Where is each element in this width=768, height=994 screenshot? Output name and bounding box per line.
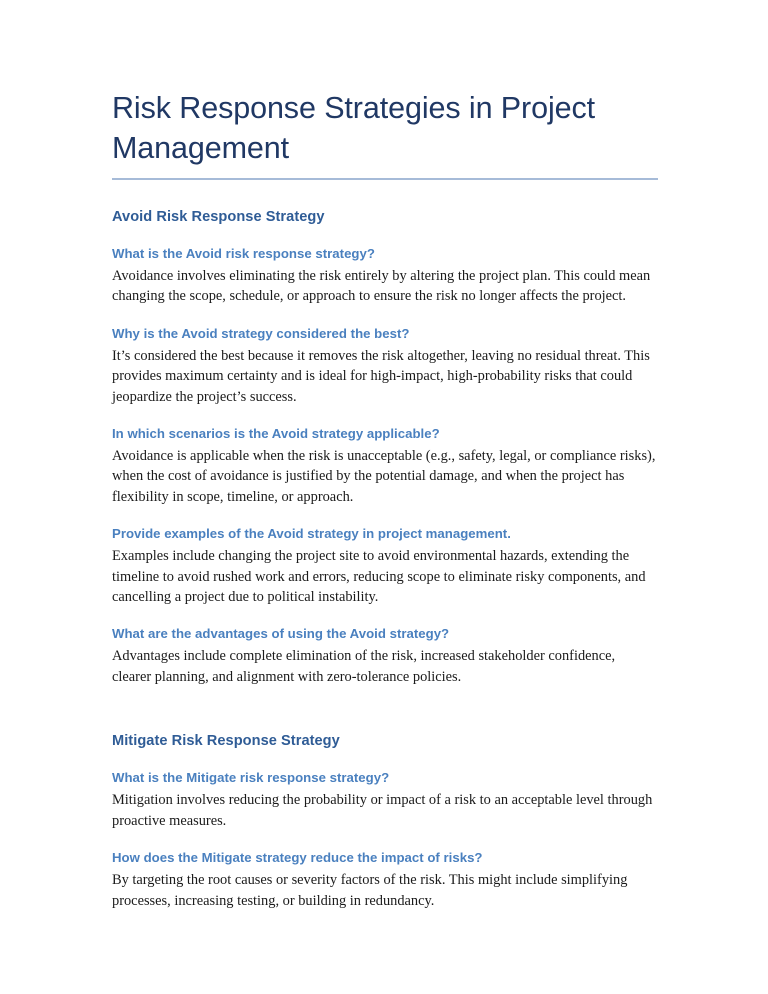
section-heading: Avoid Risk Response Strategy (112, 208, 658, 227)
qa-answer-text: Mitigation involves reducing the probabi… (112, 790, 657, 831)
qa-question-heading: Why is the Avoid strategy considered the… (112, 325, 658, 343)
qa-question-heading: What is the Avoid risk response strategy… (112, 245, 658, 263)
qa-block: How does the Mitigate strategy reduce th… (112, 849, 658, 911)
document-section: Mitigate Risk Response StrategyWhat is t… (112, 732, 658, 911)
document-section: Avoid Risk Response StrategyWhat is the … (112, 208, 658, 687)
document-page: Risk Response Strategies in Project Mana… (0, 0, 768, 994)
qa-answer-text: Examples include changing the project si… (112, 546, 657, 607)
page-title: Risk Response Strategies in Project Mana… (112, 88, 612, 178)
qa-block: In which scenarios is the Avoid strategy… (112, 425, 658, 507)
qa-question-heading: What is the Mitigate risk response strat… (112, 769, 658, 787)
section-heading: Mitigate Risk Response Strategy (112, 732, 658, 751)
qa-block: Provide examples of the Avoid strategy i… (112, 525, 658, 607)
qa-block: What is the Mitigate risk response strat… (112, 769, 658, 831)
qa-question-heading: How does the Mitigate strategy reduce th… (112, 849, 658, 867)
qa-question-heading: Provide examples of the Avoid strategy i… (112, 525, 658, 543)
qa-answer-text: Avoidance involves eliminating the risk … (112, 266, 657, 307)
title-divider (112, 178, 658, 180)
qa-block: What is the Avoid risk response strategy… (112, 245, 658, 307)
qa-answer-text: It’s considered the best because it remo… (112, 346, 657, 407)
qa-block: What are the advantages of using the Avo… (112, 625, 658, 687)
qa-question-heading: What are the advantages of using the Avo… (112, 625, 658, 643)
qa-question-heading: In which scenarios is the Avoid strategy… (112, 425, 658, 443)
qa-block: Why is the Avoid strategy considered the… (112, 325, 658, 407)
qa-answer-text: By targeting the root causes or severity… (112, 870, 657, 911)
qa-answer-text: Avoidance is applicable when the risk is… (112, 446, 657, 507)
document-body: Avoid Risk Response StrategyWhat is the … (112, 208, 658, 911)
qa-answer-text: Advantages include complete elimination … (112, 646, 657, 687)
